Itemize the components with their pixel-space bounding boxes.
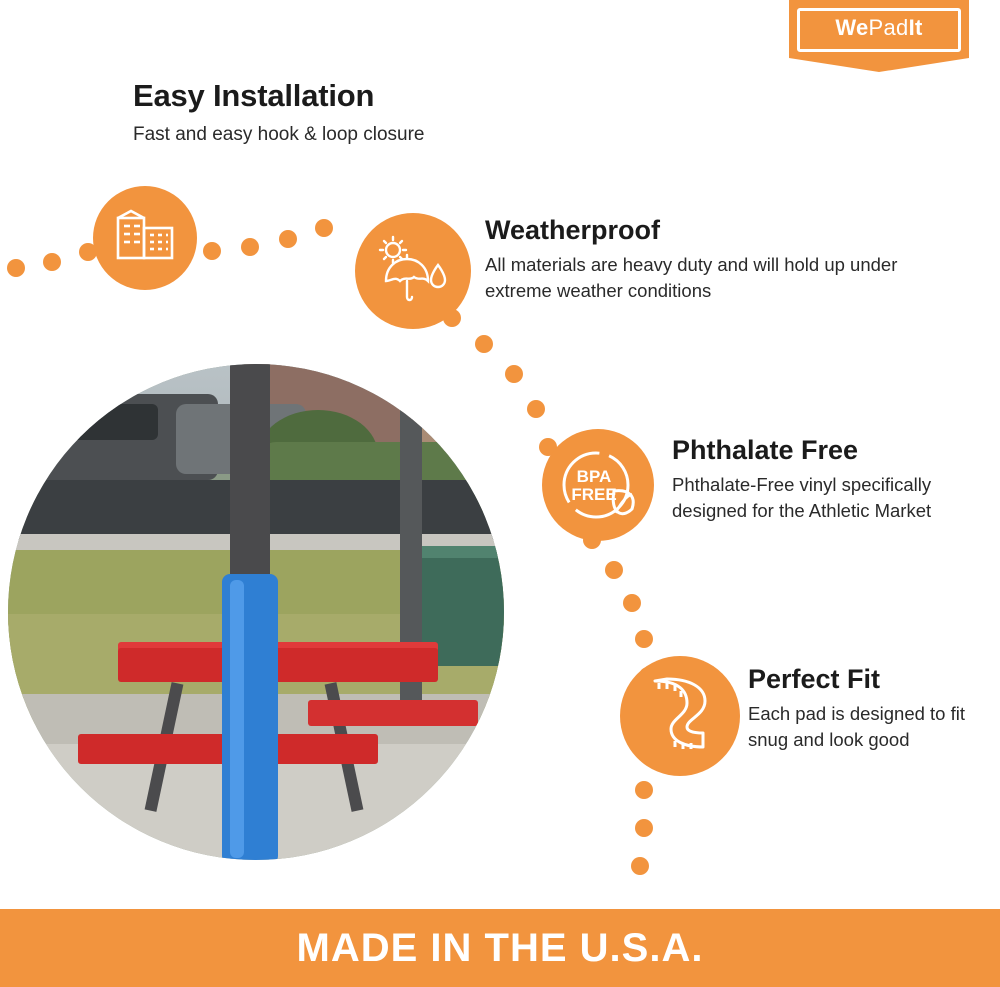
bpa-label-line1: BPA [577,467,612,486]
photo-pole-upper [230,364,270,594]
bpa-free-leaf-icon: BPA FREE [542,429,654,541]
tape-measure-icon [620,656,740,776]
feature-phthalate-free-text: Phthalate Free Phthalate-Free vinyl spec… [672,435,992,524]
feature-perfect-fit-text: Perfect Fit Each pad is designed to fit … [748,664,998,753]
buildings-icon-glyph [114,209,176,267]
buildings-icon [93,186,197,290]
sun-umbrella-raindrop-icon [355,213,471,329]
intro-title: Easy Installation [133,78,653,114]
photo-table-top [118,648,438,682]
brand-name-part2: Pad [869,15,909,40]
photo-trash-barrel-rim [412,546,504,558]
photo-blue-pole-pad-highlight [230,580,244,858]
feature-phthalate-free-description: Phthalate-Free vinyl specifically design… [672,472,992,524]
feature-weatherproof-title: Weatherproof [485,215,935,246]
footer-banner: MADE IN THE U.S.A. [0,909,1000,987]
bpa-label-line2: FREE [571,485,616,504]
brand-name-part3: It [909,15,923,40]
feature-weatherproof-description: All materials are heavy duty and will ho… [485,252,935,304]
intro-subtitle: Fast and easy hook & loop closure [133,124,653,146]
tape-measure-icon-glyph [637,673,723,759]
brand-badge: WePadIt [789,0,969,72]
photo-bench-far [308,700,478,726]
brand-wordmark: WePadIt [789,13,969,43]
feature-phthalate-free-title: Phthalate Free [672,435,992,466]
bpa-free-leaf-icon-glyph: BPA FREE [552,439,644,531]
product-photo [8,364,504,860]
photo-vehicle-window [38,404,158,440]
sun-umbrella-raindrop-icon-glyph [376,235,450,307]
intro-block: Easy Installation Fast and easy hook & l… [133,78,653,146]
feature-perfect-fit-title: Perfect Fit [748,664,998,695]
footer-label: MADE IN THE U.S.A. [297,926,704,971]
feature-weatherproof-text: Weatherproof All materials are heavy dut… [485,215,935,304]
feature-perfect-fit-description: Each pad is designed to fit snug and loo… [748,701,998,753]
brand-name-part1: We [835,15,868,40]
